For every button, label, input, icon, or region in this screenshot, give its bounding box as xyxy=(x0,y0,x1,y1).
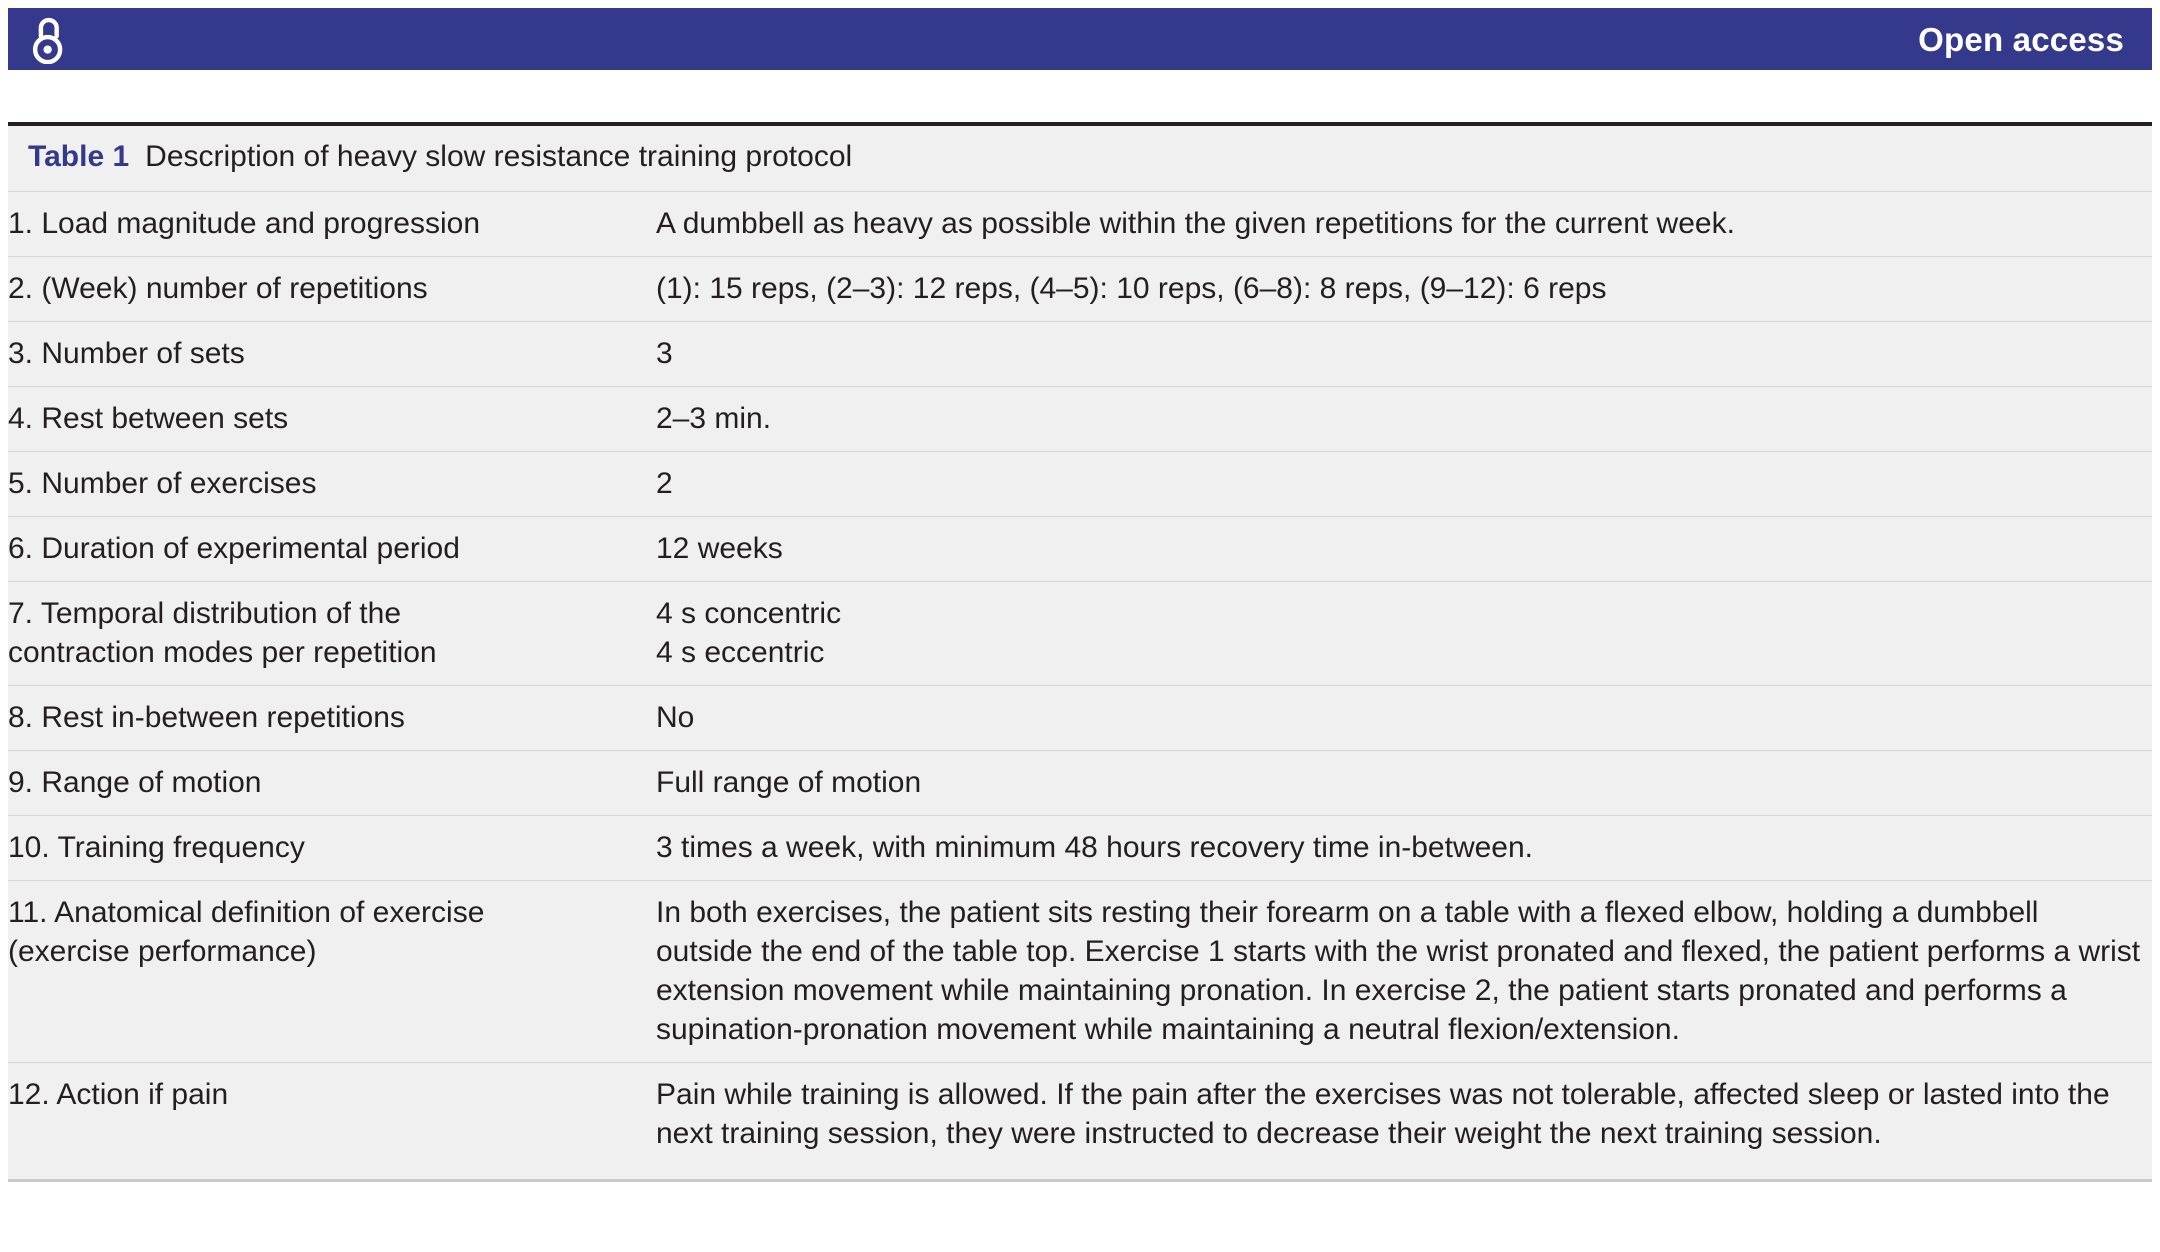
row-description: 3 times a week, with minimum 48 hours re… xyxy=(656,815,2152,880)
table-caption-text: Description of heavy slow resistance tra… xyxy=(145,140,852,173)
row-description: 2 xyxy=(656,451,2152,516)
row-item-label: 3. Number of sets xyxy=(8,321,656,386)
row-description: 3 xyxy=(656,321,2152,386)
row-item-label: 9. Range of motion xyxy=(8,750,656,815)
table-row: 6. Duration of experimental period 12 we… xyxy=(8,516,2152,581)
table-row: 11. Anatomical definition of exercise (e… xyxy=(8,880,2152,1062)
row-description: Full range of motion xyxy=(656,750,2152,815)
row-item-label: 4. Rest between sets xyxy=(8,386,656,451)
table-row: 7. Temporal distribution of the contract… xyxy=(8,581,2152,685)
row-description: No xyxy=(656,685,2152,750)
table-row: 4. Rest between sets 2–3 min. xyxy=(8,386,2152,451)
table-row: 3. Number of sets 3 xyxy=(8,321,2152,386)
table-row: 2. (Week) number of repetitions (1): 15 … xyxy=(8,256,2152,321)
open-access-label: Open access xyxy=(1918,23,2124,56)
table-row: 12. Action if pain Pain while training i… xyxy=(8,1062,2152,1179)
row-item-label: 8. Rest in-between repetitions xyxy=(8,685,656,750)
table-row: 1. Load magnitude and progression A dumb… xyxy=(8,192,2152,257)
row-item-label: 6. Duration of experimental period xyxy=(8,516,656,581)
protocol-table-body: 1. Load magnitude and progression A dumb… xyxy=(8,192,2152,1179)
row-description: A dumbbell as heavy as possible within t… xyxy=(656,192,2152,257)
row-item-label: 10. Training frequency xyxy=(8,815,656,880)
open-access-banner: Open access xyxy=(8,8,2152,70)
table-row: 10. Training frequency 3 times a week, w… xyxy=(8,815,2152,880)
protocol-table: 1. Load magnitude and progression A dumb… xyxy=(8,192,2152,1179)
row-item-label: 5. Number of exercises xyxy=(8,451,656,516)
table-row: 8. Rest in-between repetitions No xyxy=(8,685,2152,750)
row-item-label: 12. Action if pain xyxy=(8,1062,656,1179)
open-access-lock-icon xyxy=(30,14,72,64)
table-row: 9. Range of motion Full range of motion xyxy=(8,750,2152,815)
row-description: (1): 15 reps, (2–3): 12 reps, (4–5): 10 … xyxy=(656,256,2152,321)
row-description: Pain while training is allowed. If the p… xyxy=(656,1062,2152,1179)
table-row: 5. Number of exercises 2 xyxy=(8,451,2152,516)
row-item-label: 7. Temporal distribution of the contract… xyxy=(8,581,656,685)
row-description: 12 weeks xyxy=(656,516,2152,581)
table-caption-label: Table 1 xyxy=(28,140,129,173)
row-item-label: 1. Load magnitude and progression xyxy=(8,192,656,257)
row-description: In both exercises, the patient sits rest… xyxy=(656,880,2152,1062)
table-caption: Table 1Description of heavy slow resista… xyxy=(8,126,2152,192)
row-item-label: 2. (Week) number of repetitions xyxy=(8,256,656,321)
row-description: 2–3 min. xyxy=(656,386,2152,451)
row-description: 4 s concentric 4 s eccentric xyxy=(656,581,2152,685)
table-1-block: Table 1Description of heavy slow resista… xyxy=(8,122,2152,1182)
row-item-label: 11. Anatomical definition of exercise (e… xyxy=(8,880,656,1062)
